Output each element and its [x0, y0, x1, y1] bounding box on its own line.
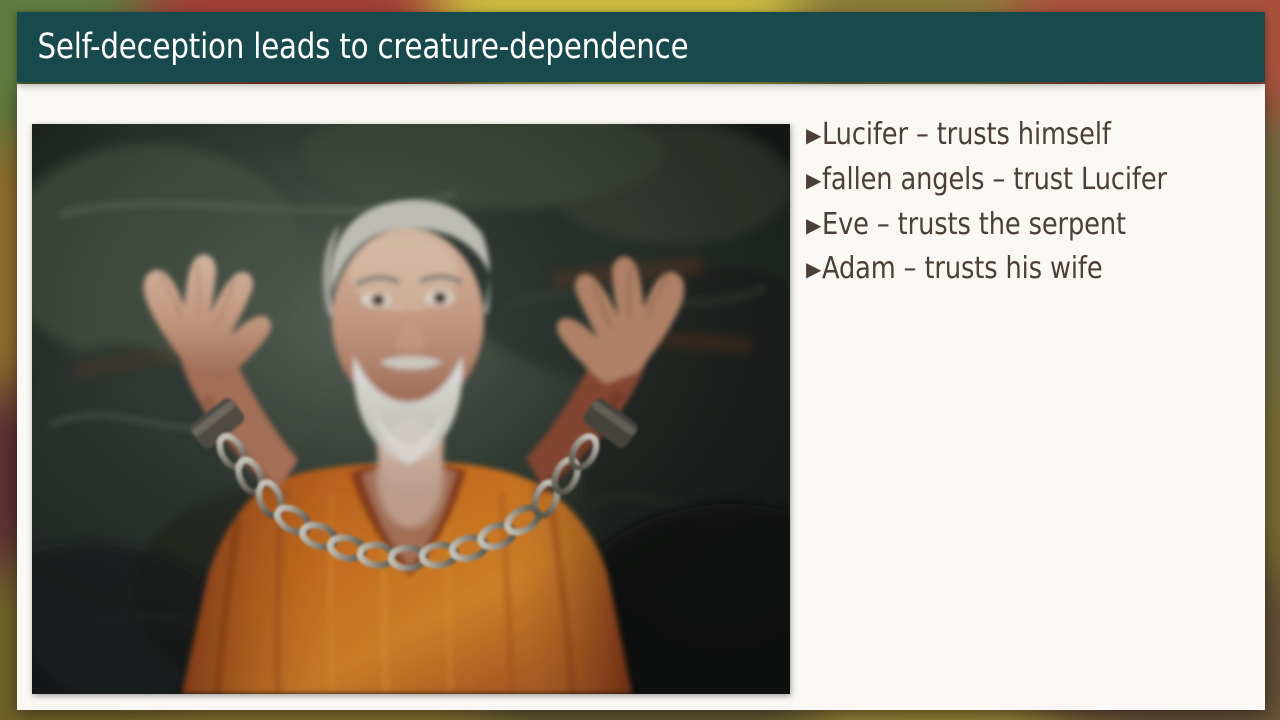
- triangle-bullet-icon: ▶: [806, 260, 821, 280]
- bullet-list: ▶ Lucifer – trusts himself ▶ fallen ange…: [806, 118, 1246, 297]
- slide-title-bar: Self-deception leads to creature-depende…: [17, 12, 1265, 82]
- triangle-bullet-icon: ▶: [806, 216, 821, 236]
- list-item: ▶ fallen angels – trust Lucifer: [806, 163, 1246, 198]
- bullet-label: fallen angels – trust Lucifer: [822, 163, 1167, 198]
- slide-root: Self-deception leads to creature-depende…: [0, 0, 1280, 720]
- page-title: Self-deception leads to creature-depende…: [17, 27, 688, 67]
- bullet-label: Lucifer – trusts himself: [822, 118, 1111, 153]
- slide-image-chained-man: [32, 124, 790, 694]
- chained-man-illustration: [32, 124, 790, 694]
- triangle-bullet-icon: ▶: [806, 171, 821, 191]
- triangle-bullet-icon: ▶: [806, 126, 821, 146]
- list-item: ▶ Eve – trusts the serpent: [806, 208, 1246, 243]
- list-item: ▶ Lucifer – trusts himself: [806, 118, 1246, 153]
- bullet-label: Adam – trusts his wife: [822, 252, 1103, 287]
- list-item: ▶ Adam – trusts his wife: [806, 252, 1246, 287]
- bullet-label: Eve – trusts the serpent: [822, 208, 1126, 243]
